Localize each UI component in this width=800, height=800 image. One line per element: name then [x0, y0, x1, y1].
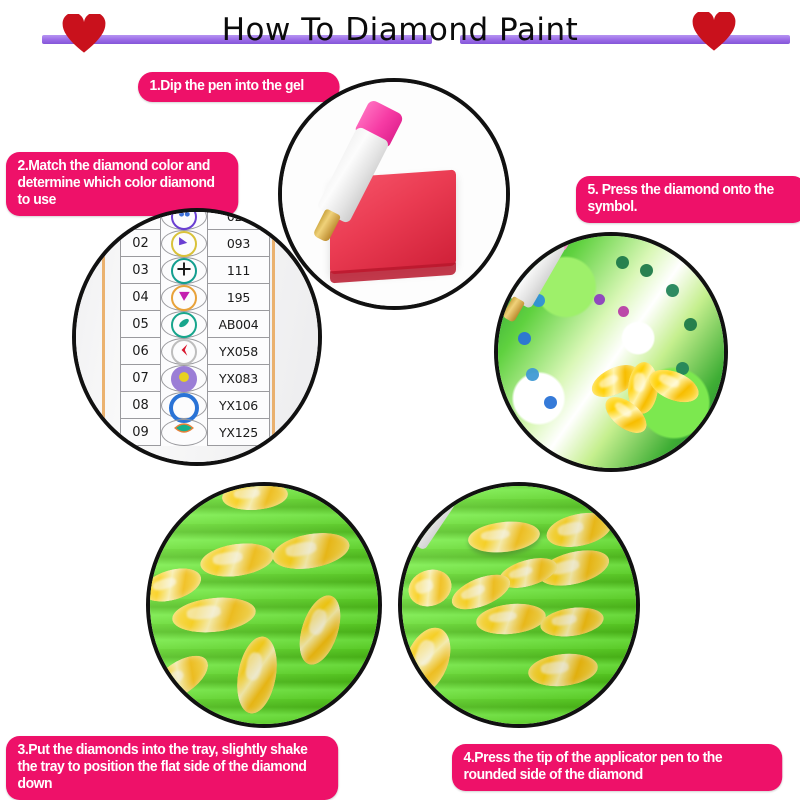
symbol-chart-body: 01 026 02 093 03 111 04: [121, 208, 270, 446]
row-symbol: [161, 392, 207, 419]
tray-gem: [475, 600, 548, 637]
row-number: 06: [121, 338, 161, 365]
row-symbol: [161, 208, 207, 230]
tray-gem: [198, 539, 276, 581]
tray-gem: [403, 564, 457, 613]
symbol-chart-table: 01 026 02 093 03 111 04: [120, 208, 270, 446]
printed-canvas: [498, 236, 724, 468]
row-code: YX058: [207, 338, 269, 365]
step-5-label: 5. Press the diamond onto the symbol.: [576, 176, 800, 223]
step-4-photo: [398, 482, 640, 728]
page-header: How To Diamond Paint: [0, 0, 800, 70]
row-number: 04: [121, 284, 161, 311]
tray-gem: [232, 633, 283, 716]
canvas-bead: [640, 264, 653, 277]
row-number: 07: [121, 365, 161, 392]
table-row: 02 093: [121, 230, 270, 257]
row-symbol: [161, 284, 207, 311]
eye-leaf-icon: [173, 420, 195, 442]
page-title: How To Diamond Paint: [0, 8, 800, 52]
tray-gem: [447, 567, 515, 616]
table-row: 09 YX125: [121, 419, 270, 446]
table-row: 01 026: [121, 208, 270, 230]
canvas-bead: [544, 396, 557, 409]
row-number: 01: [121, 208, 161, 230]
row-number: 05: [121, 311, 161, 338]
row-symbol: [161, 419, 207, 446]
canvas-bead: [526, 368, 539, 381]
diamond-tray: [150, 486, 378, 724]
canvas-bead: [666, 284, 679, 297]
row-number: 09: [121, 419, 161, 446]
page-edge-right: [272, 212, 275, 462]
table-row: 05 AB004: [121, 311, 270, 338]
step-3-photo: [146, 482, 382, 728]
leaf-icon: [171, 312, 197, 338]
applicator-pen-icon: [542, 233, 566, 247]
applicator-pen-icon: [442, 482, 466, 488]
row-code: YX106: [207, 392, 269, 419]
tray-gem: [292, 590, 348, 670]
row-symbol: [161, 257, 207, 284]
tray-gem: [543, 507, 614, 552]
tray-gem: [146, 562, 205, 607]
row-symbol: [161, 338, 207, 365]
tray-gem: [398, 621, 460, 702]
row-code: 111: [207, 257, 269, 284]
row-code: YX083: [207, 365, 269, 392]
double-dot-icon: [171, 208, 197, 230]
canvas-bead: [616, 256, 629, 269]
step-5-photo: [494, 232, 728, 472]
row-symbol: [161, 365, 207, 392]
applicator-pen-icon: [358, 126, 390, 142]
canvas-bead: [618, 306, 629, 317]
tray-gem: [170, 594, 257, 637]
tray-gem: [221, 482, 289, 512]
tray-gem: [496, 552, 561, 594]
diamond-tray: [402, 486, 636, 724]
row-code: 026: [207, 208, 269, 230]
tray-gem: [527, 650, 600, 689]
canvas-bead: [684, 318, 697, 331]
quarter-wedge-icon: [171, 231, 197, 257]
table-row: 04 195: [121, 284, 270, 311]
triangle-icon: [171, 285, 197, 311]
row-code: 093: [207, 230, 269, 257]
left-chevron-icon: [171, 339, 197, 365]
row-code: AB004: [207, 311, 269, 338]
canvas-bead: [518, 332, 531, 345]
tray-gem: [535, 544, 613, 592]
step-4-label: 4.Press the tip of the applicator pen to…: [452, 744, 782, 791]
row-code: YX125: [207, 419, 269, 446]
page-edge-left: [102, 212, 105, 462]
row-number: 03: [121, 257, 161, 284]
canvas-bead: [594, 294, 605, 305]
tray-gem: [467, 518, 542, 555]
row-symbol: [161, 230, 207, 257]
row-number: 02: [121, 230, 161, 257]
infographic-page: How To Diamond Paint 1.Dip the pen into …: [0, 0, 800, 800]
filled-circle-icon: [171, 366, 197, 392]
tray-gem: [538, 604, 605, 641]
plus-icon: [171, 258, 197, 284]
table-row: 08 YX106: [121, 392, 270, 419]
tray-gem: [270, 527, 353, 574]
step-3-label: 3.Put the diamonds into the tray, slight…: [6, 736, 338, 800]
step-2-photo: 01 026 02 093 03 111 04: [72, 208, 322, 466]
tray-gem: [146, 647, 215, 709]
table-row: 03 111: [121, 257, 270, 284]
table-row: 07 YX083: [121, 365, 270, 392]
table-row: 06 YX058: [121, 338, 270, 365]
row-symbol: [161, 311, 207, 338]
row-number: 08: [121, 392, 161, 419]
step-2-label: 2.Match the diamond color and determine …: [6, 152, 238, 216]
row-code: 195: [207, 284, 269, 311]
